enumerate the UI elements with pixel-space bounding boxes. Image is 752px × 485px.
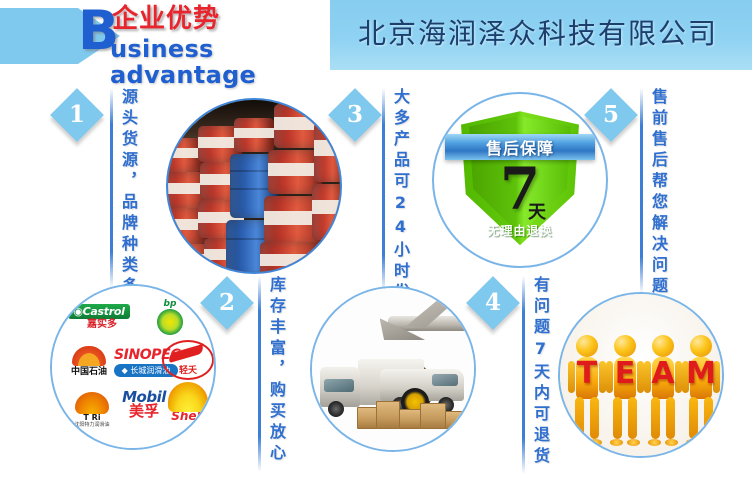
badge-number-3: 3 [328, 88, 382, 142]
team-photo: T E A M [558, 292, 724, 458]
logo-castrol: ◉Castrol 嘉实多 [68, 304, 136, 330]
team-letter-e: E [615, 359, 636, 389]
logo-petrochina: 中国石油 [58, 346, 120, 377]
advantage-banner: B 企业优势 usiness advantage 北京海润泽众科技有限公司 1 … [0, 0, 752, 485]
company-name: 北京海润泽众科技有限公司 [358, 12, 718, 56]
advantage-text-5: 售前售后帮您解决问题 [646, 88, 670, 290]
airplane-icon [374, 304, 470, 338]
divider-line-3 [382, 88, 385, 292]
shield-subtext: 无理由退换 [487, 222, 552, 239]
advantage-text-4: 有问题7天内可退货 [528, 276, 552, 470]
logo-qingtian: 轻夭 [162, 340, 214, 380]
advantage-text-3: 大多产品可24小时发货 [388, 88, 412, 288]
brand-logos-photo: ◉Castrol 嘉实多 bp 中国石油 SINOPEC ◆ 长城润滑油 轻夭 … [50, 284, 216, 450]
badge-number-1: 1 [50, 88, 104, 142]
team-figure-3: A [648, 335, 678, 443]
team-letter-a: A [651, 359, 674, 389]
divider-line-2 [258, 276, 261, 472]
badge-number-4: 4 [466, 276, 520, 330]
divider-line-5 [640, 88, 643, 294]
cargo-boxes-icon [357, 395, 467, 429]
shield-day-unit: 天 [528, 198, 546, 224]
logistics-photo [310, 286, 476, 452]
badge-number-5: 5 [584, 88, 638, 142]
logo-tri: T Ri 沈阳特力润滑油 [66, 392, 118, 428]
header: B 企业优势 usiness advantage 北京海润泽众科技有限公司 [0, 0, 752, 72]
logo-bp: bp [148, 300, 192, 335]
company-name-panel: 北京海润泽众科技有限公司 [330, 0, 752, 70]
brand-logo: B 企业优势 usiness advantage [78, 2, 328, 70]
advantage-text-2: 库存丰富，购买放心 [264, 276, 288, 468]
team-figure-2: E [610, 335, 640, 443]
oil-drums-photo [166, 98, 342, 274]
team-figure-4: M [686, 335, 716, 443]
team-figure-1: T [572, 335, 602, 443]
logo-title-en: usiness advantage [110, 36, 328, 88]
logo-title-cn: 企业优势 [112, 6, 220, 32]
team-letter-t: T [577, 359, 597, 389]
divider-line-4 [522, 276, 525, 474]
advantage-text-1: 源头货源，品牌种类多 [116, 88, 140, 284]
after-sales-shield-graphic: 售后保障 7 天 无理由退换 [432, 92, 608, 268]
logo-shell: Shell [164, 382, 212, 422]
divider-line-1 [110, 88, 113, 288]
team-letter-m: M [686, 359, 716, 389]
